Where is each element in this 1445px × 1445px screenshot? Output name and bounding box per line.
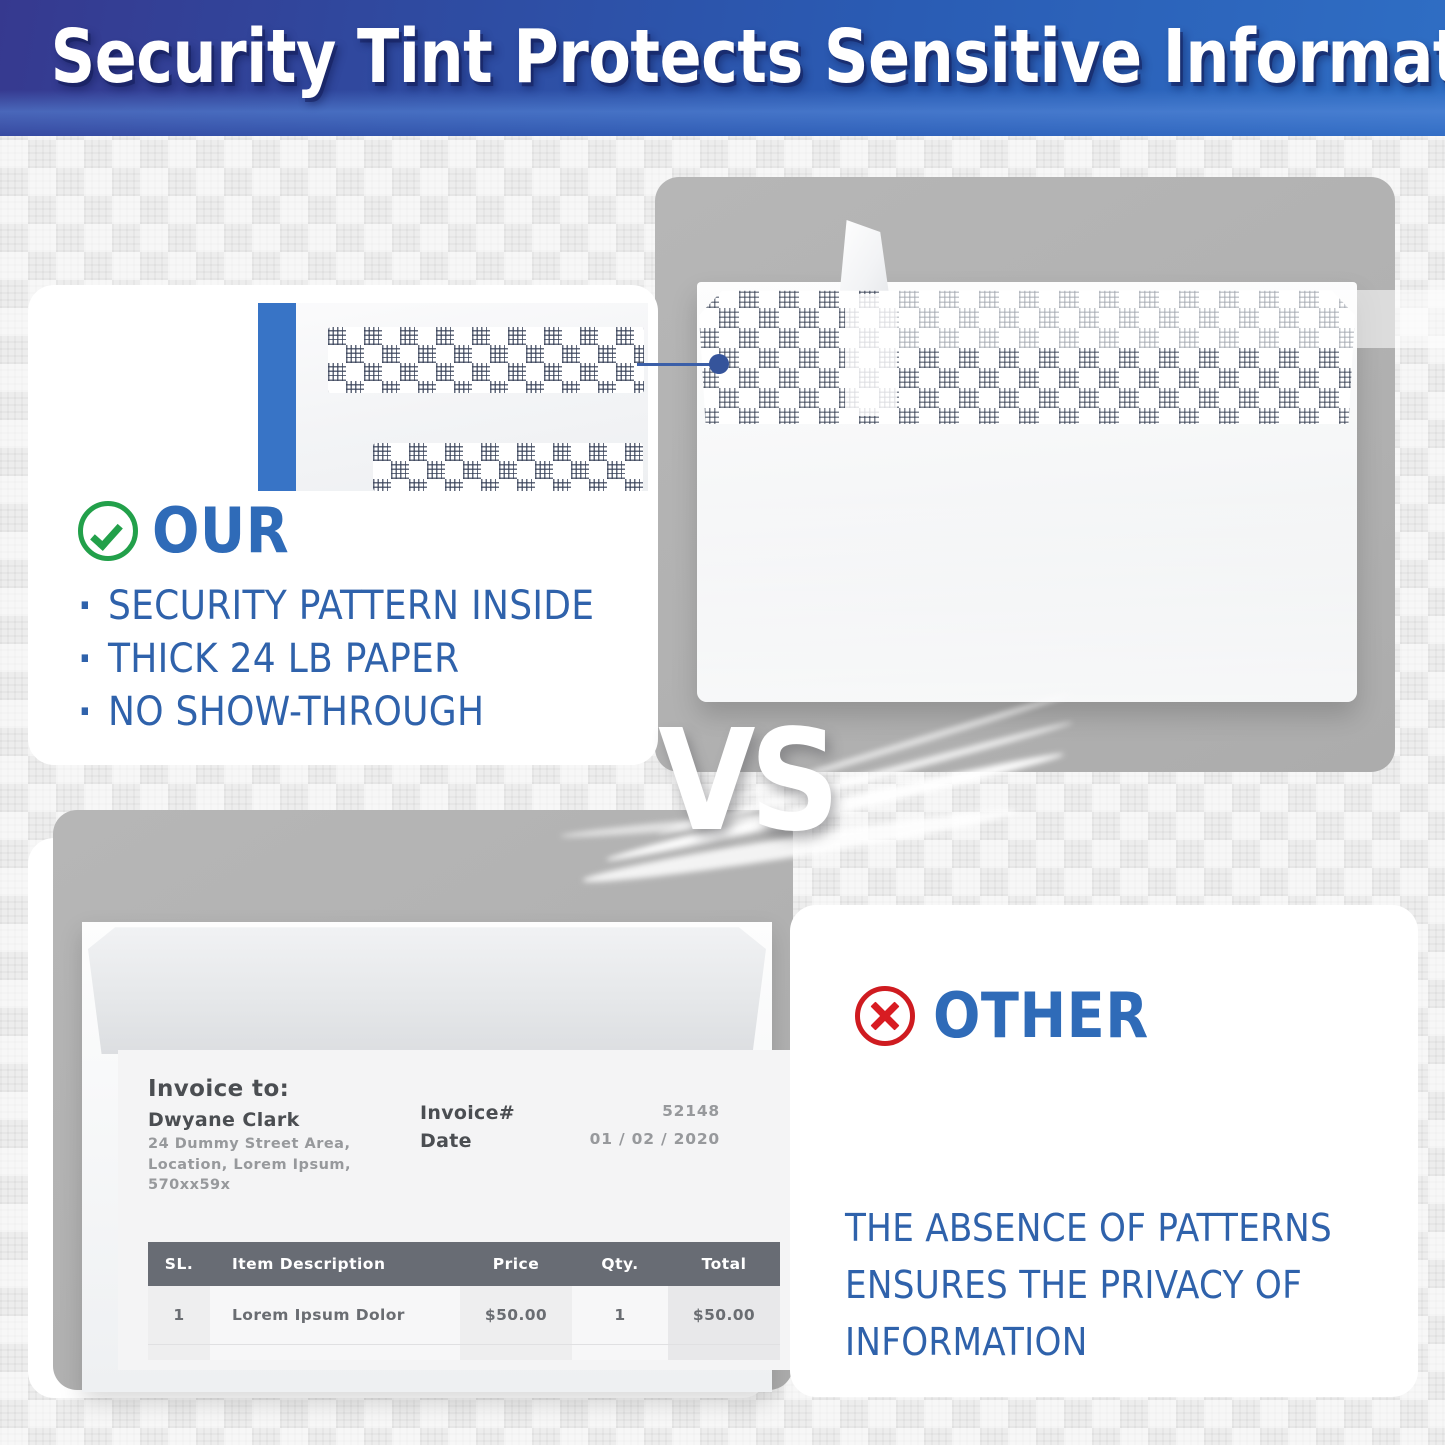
- invoice-customer-name: Dwyane Clark: [148, 1109, 351, 1131]
- envelope-shine: [697, 484, 1357, 702]
- our-label: OUR: [152, 500, 289, 562]
- other-description: THE ABSENCE OF PATTERNS ENSURES THE PRIV…: [845, 1200, 1385, 1371]
- list-item: THICK 24 LB PAPER: [78, 633, 594, 686]
- x-circle-icon: [855, 986, 915, 1046]
- our-bullet-list: SECURITY PATTERN INSIDE THICK 24 LB PAPE…: [78, 580, 594, 738]
- table-header-row: SL. Item Description Price Qty. Total: [148, 1242, 780, 1286]
- invoice-to-label: Invoice to:: [148, 1076, 351, 1102]
- invoice-address-line: Location, Lorem Ipsum,: [148, 1155, 351, 1176]
- invoice-address-line: 24 Dummy Street Area,: [148, 1134, 351, 1155]
- other-heading: OTHER: [855, 985, 1149, 1047]
- invoice-table: SL. Item Description Price Qty. Total 1 …: [148, 1242, 780, 1361]
- invoice-document: Invoice to: Dwyane Clark 24 Dummy Street…: [118, 1050, 810, 1370]
- inner-sheet-overlay-wide: [897, 290, 1445, 348]
- invoice-number-label: Invoice#: [420, 1102, 552, 1124]
- invoice-date-value: 01 / 02 / 2020: [570, 1130, 720, 1152]
- table-row: 1 Lorem Ipsum Dolor $50.00 1 $50.00: [148, 1286, 780, 1345]
- other-label: OTHER: [933, 985, 1149, 1047]
- our-envelope-illustration: [258, 303, 648, 491]
- invoice-address-line: 570xx59x: [148, 1175, 351, 1196]
- callout-dot: [709, 354, 729, 374]
- cell-price: $50.00: [460, 1286, 572, 1345]
- infographic-canvas: Security Tint Protects Sensitive Informa…: [0, 0, 1445, 1445]
- cell-item: Lorem Ipsum Dolor: [210, 1286, 460, 1345]
- invoice-meta-row: Date 01 / 02 / 2020: [420, 1130, 720, 1152]
- column-header-sl: SL.: [148, 1242, 210, 1286]
- cell-qty: 1: [572, 1286, 668, 1345]
- header-banner: Security Tint Protects Sensitive Informa…: [0, 0, 1445, 136]
- cell-sl: 1: [148, 1286, 210, 1345]
- invoice-number-value: 52148: [570, 1102, 720, 1124]
- list-item: SECURITY PATTERN INSIDE: [78, 580, 594, 633]
- inner-sheet-overlay: [845, 294, 897, 416]
- column-header-item: Item Description: [210, 1242, 460, 1286]
- security-tint-block-top: [328, 327, 644, 393]
- invoice-recipient-block: Invoice to: Dwyane Clark 24 Dummy Street…: [148, 1076, 351, 1196]
- invoice-date-label: Date: [420, 1130, 552, 1152]
- list-item: NO SHOW-THROUGH: [78, 686, 594, 739]
- page-title: Security Tint Protects Sensitive Informa…: [51, 14, 1395, 100]
- column-header-qty: Qty.: [572, 1242, 668, 1286]
- column-header-total: Total: [668, 1242, 780, 1286]
- table-row-empty: [148, 1344, 780, 1360]
- cell-total: $50.00: [668, 1286, 780, 1345]
- other-envelope-photo: Invoice to: Dwyane Clark 24 Dummy Street…: [82, 922, 772, 1392]
- blue-accent-bar: [258, 303, 296, 491]
- invoice-meta-row: Invoice# 52148: [420, 1102, 720, 1124]
- invoice-meta-block: Invoice# 52148 Date 01 / 02 / 2020: [420, 1102, 720, 1158]
- our-heading: OUR: [78, 500, 289, 562]
- check-circle-icon: [78, 501, 138, 561]
- check-mark: [90, 517, 123, 551]
- invoice-header: Invoice to: Dwyane Clark 24 Dummy Street…: [148, 1076, 780, 1196]
- our-envelope-open-photo: [697, 282, 1357, 702]
- column-header-price: Price: [460, 1242, 572, 1286]
- envelope-flap-no-tint: [88, 926, 766, 1054]
- security-tint-block-bottom: [373, 443, 643, 491]
